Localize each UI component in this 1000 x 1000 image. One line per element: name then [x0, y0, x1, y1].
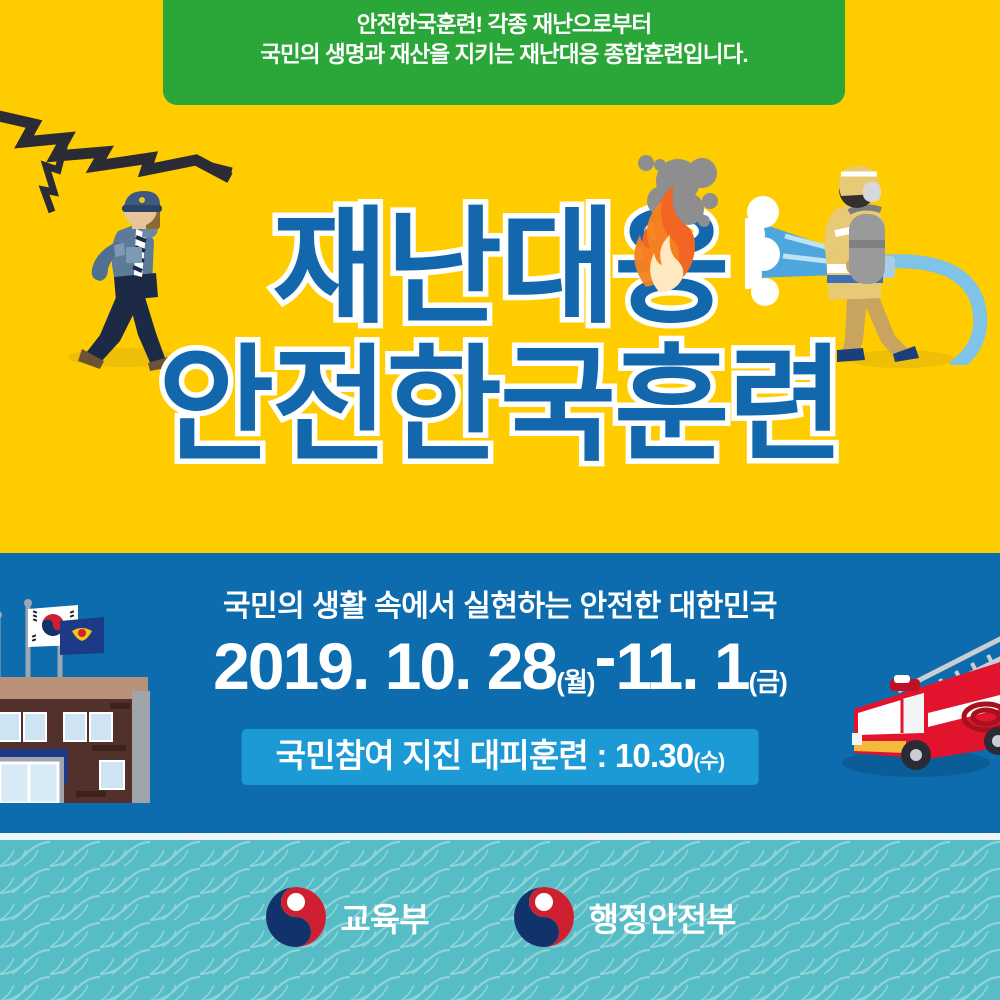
logo-item-education: 교육부 [265, 886, 429, 948]
logo-label-education: 교육부 [341, 893, 429, 941]
footer-logos: 교육부 행정안전부 [0, 833, 1000, 1000]
hero-section: 재난대응 안전한국훈련 안전한국훈련! 각종 재난으로부터 국민의 생명과 재산… [0, 0, 1000, 553]
date-end-dow: (금) [749, 667, 787, 697]
date-start-dow: (월) [556, 667, 594, 697]
taegeuk-government-logo-icon [265, 886, 327, 948]
taegeuk-government-logo-icon [513, 886, 575, 948]
police-station-illustration [0, 573, 182, 803]
date-end: 11. 1 [615, 629, 748, 703]
banner-line-1: 안전한국훈련! 각종 재난으로부터 [163, 10, 845, 40]
logo-label-interior-safety: 행정안전부 [589, 893, 736, 941]
fire-truck-illustration [836, 613, 1000, 793]
earthquake-drill-label: 국민참여 지진 대피훈련 : 10.30 [276, 737, 694, 774]
date-start: 10. 28 [385, 629, 557, 703]
banner-line-2: 국민의 생명과 재산을 지키는 재난대응 종합훈련입니다. [163, 40, 845, 70]
info-section: 국민의 생활 속에서 실현하는 안전한 대한민국 2019. 10. 28(월)… [0, 553, 1000, 833]
date-separator: - [594, 619, 615, 693]
green-banner: 안전한국훈련! 각종 재난으로부터 국민의 생명과 재산을 지키는 재난대응 종… [163, 0, 845, 105]
footer-section: 교육부 행정안전부 [0, 833, 1000, 1000]
fire-smoke-icon [616, 143, 746, 293]
police-flag-icon [60, 617, 104, 655]
firefighter-illustration [745, 150, 1000, 365]
earthquake-drill-badge: 국민참여 지진 대피훈련 : 10.30(수) [242, 729, 759, 785]
date-year: 2019. [213, 629, 368, 703]
earthquake-drill-dow: (수) [693, 750, 724, 773]
logo-item-interior-safety: 행정안전부 [513, 886, 736, 948]
poster-root: 재난대응 안전한국훈련 안전한국훈련! 각종 재난으로부터 국민의 생명과 재산… [0, 0, 1000, 1000]
water-spray-icon [745, 196, 780, 306]
